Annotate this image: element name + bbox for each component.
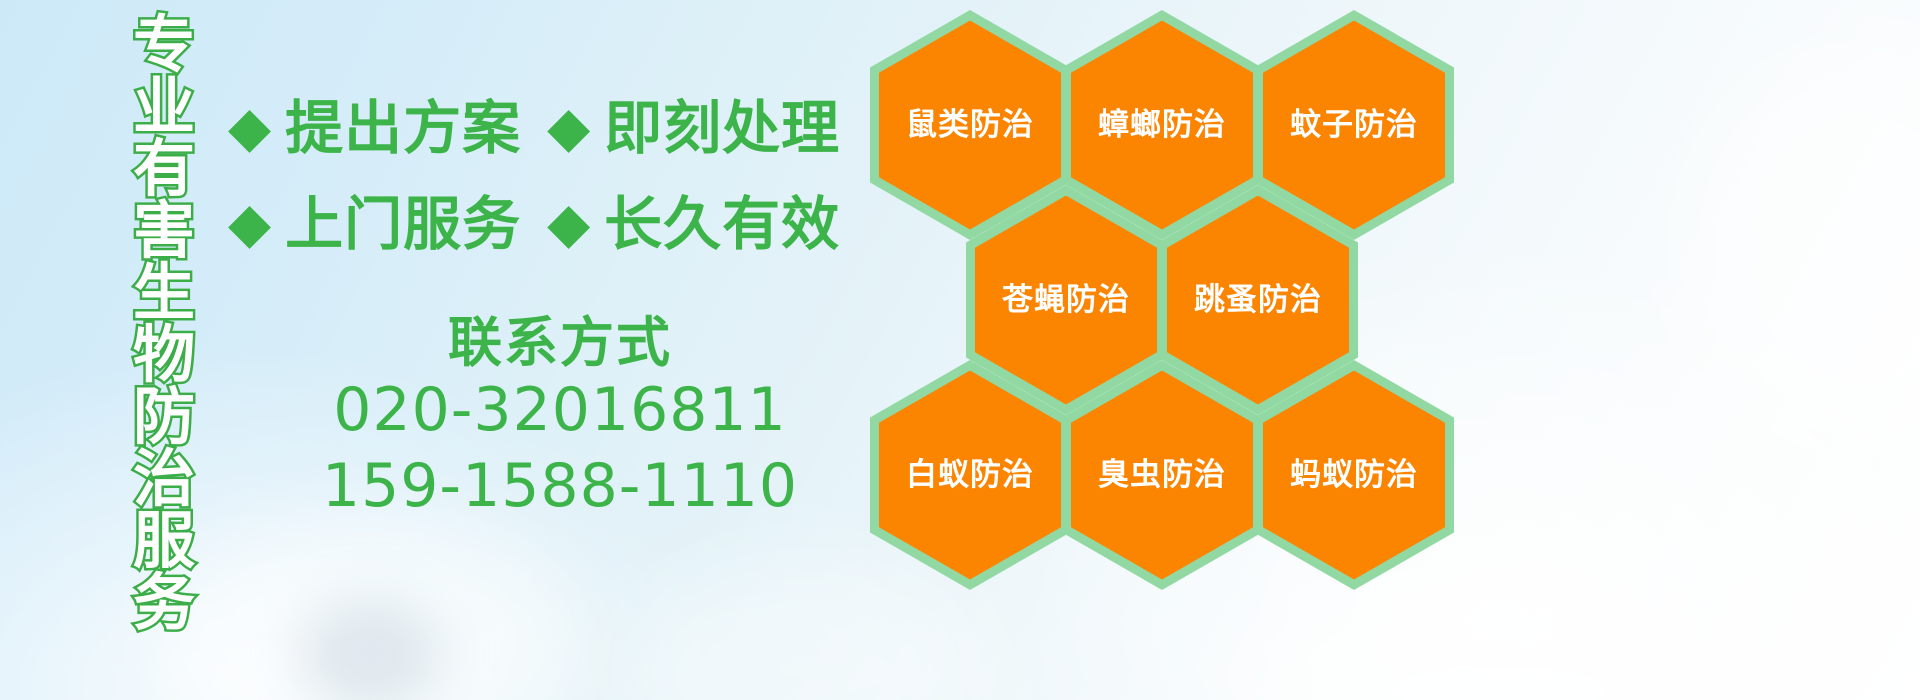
background-blur-blob — [1680, 40, 1920, 460]
promo-banner: 专 业 有 害 生 物 防 治 服 务 ◆ 提出方案 ◆ 即刻处理 ◆ 上门服务… — [0, 0, 1920, 700]
service-label: 蚂蚁防治 — [1290, 460, 1418, 491]
feature-label: 提出方案 — [285, 99, 521, 157]
service-label: 跳蚤防治 — [1194, 285, 1322, 316]
service-honeycomb: 鼠类防治 蟑螂防治 蚊子防治 苍蝇防治 跳蚤防治 白蚁防治 — [860, 0, 1480, 600]
feature-row: ◆ 提出方案 ◆ 即刻处理 — [228, 80, 868, 176]
vertical-headline-char: 治 — [133, 448, 195, 510]
vertical-headline-char: 务 — [133, 572, 195, 634]
feature-label: 上门服务 — [285, 195, 521, 253]
service-hex-inner: 鼠类防治 — [879, 21, 1061, 230]
contact-block: 联系方式 020-32016811 159-1588-1110 — [250, 315, 870, 525]
vertical-headline-char: 生 — [133, 262, 195, 324]
service-label: 蚊子防治 — [1290, 110, 1418, 141]
diamond-bullet-icon: ◆ — [228, 196, 271, 252]
phone-number-mobile[interactable]: 159-1588-1110 — [250, 448, 870, 525]
service-hex-inner: 跳蚤防治 — [1167, 196, 1349, 405]
background-blur-blob — [300, 600, 440, 700]
service-hex-inner: 蚂蚁防治 — [1263, 371, 1445, 580]
feature-list: ◆ 提出方案 ◆ 即刻处理 ◆ 上门服务 ◆ 长久有效 — [228, 80, 868, 272]
background-blur-blob — [160, 520, 580, 700]
phone-number-landline[interactable]: 020-32016811 — [250, 372, 870, 449]
service-hex-inner: 白蚁防治 — [879, 371, 1061, 580]
service-label: 蟑螂防治 — [1098, 110, 1226, 141]
vertical-headline: 专 业 有 害 生 物 防 治 服 务 — [112, 14, 216, 570]
feature-row: ◆ 上门服务 ◆ 长久有效 — [228, 176, 868, 272]
vertical-headline-char: 有 — [133, 138, 195, 200]
service-hex-inner: 臭虫防治 — [1071, 371, 1253, 580]
vertical-headline-char: 专 — [133, 14, 195, 76]
vertical-headline-char: 防 — [133, 386, 195, 448]
service-label: 臭虫防治 — [1098, 460, 1226, 491]
vertical-headline-char: 服 — [133, 510, 195, 572]
service-hex-inner: 蟑螂防治 — [1071, 21, 1253, 230]
service-label: 白蚁防治 — [906, 460, 1034, 491]
vertical-headline-char: 害 — [133, 200, 195, 262]
contact-title: 联系方式 — [250, 315, 870, 372]
vertical-headline-char: 物 — [133, 324, 195, 386]
diamond-bullet-icon: ◆ — [228, 100, 271, 156]
diamond-bullet-icon: ◆ — [547, 196, 590, 252]
service-label: 苍蝇防治 — [1002, 285, 1130, 316]
feature-label: 即刻处理 — [604, 99, 840, 157]
feature-label: 长久有效 — [604, 195, 840, 253]
service-label: 鼠类防治 — [906, 110, 1034, 141]
vertical-headline-char: 业 — [133, 76, 195, 138]
service-hex-inner: 苍蝇防治 — [975, 196, 1157, 405]
diamond-bullet-icon: ◆ — [547, 100, 590, 156]
service-hex-inner: 蚊子防治 — [1263, 21, 1445, 230]
